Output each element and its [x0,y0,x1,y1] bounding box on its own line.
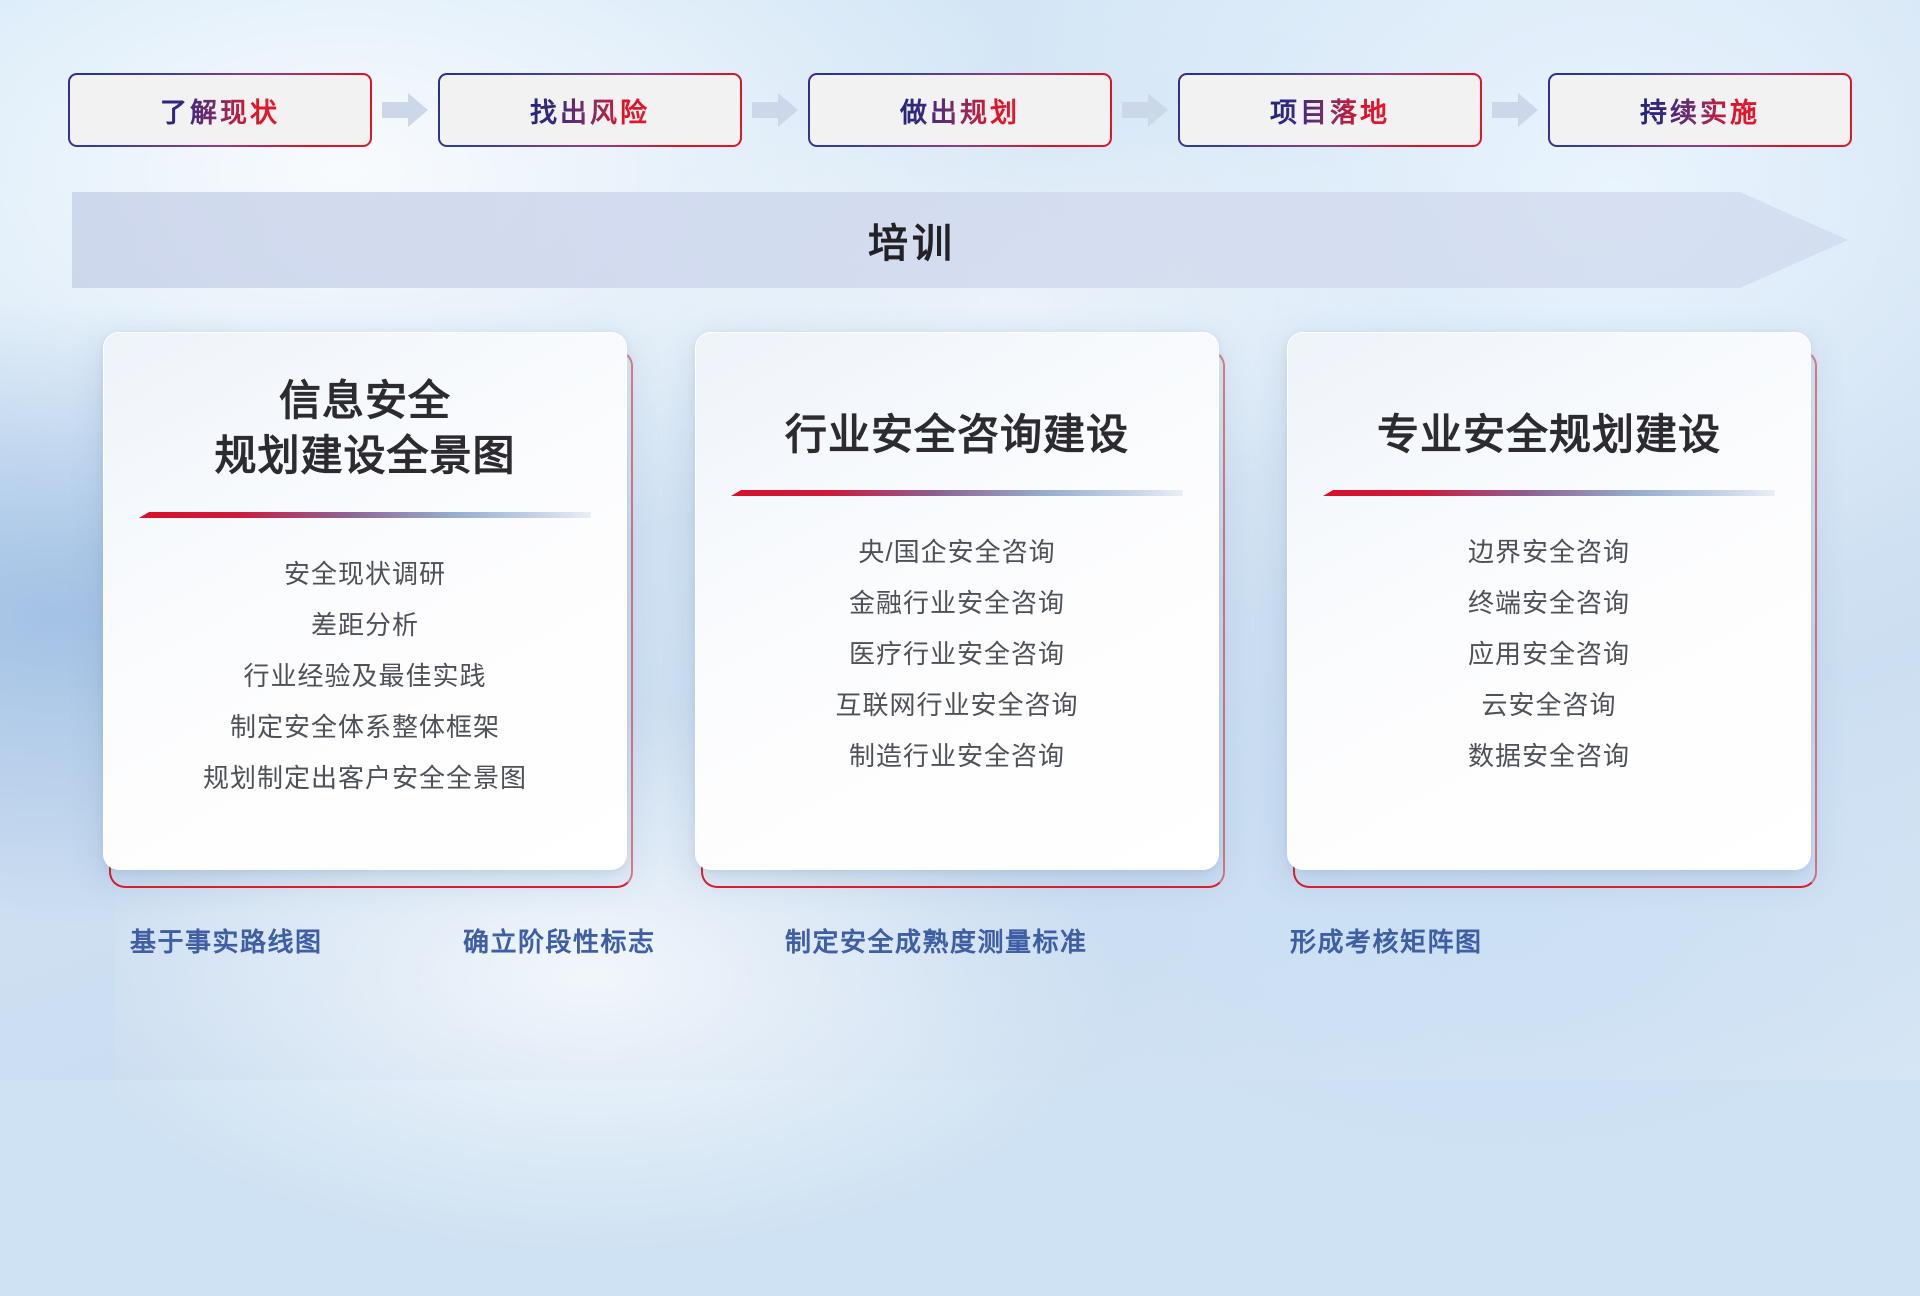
card-list-1: 安全现状调研 差距分析 行业经验及最佳实践 制定安全体系整体框架 规划制定出客户… [134,549,596,804]
card-3[interactable]: 专业安全规划建设 [1287,332,1811,870]
step-box-3[interactable]: 做出规划 [808,73,1112,147]
step-label-2: 找出风险 [530,91,650,130]
card-list-3: 边界安全咨询 终端安全咨询 应用安全咨询 云安全咨询 数据安全咨询 [1318,527,1780,782]
card-divider-1 [139,510,591,523]
card-list-item: 终端安全咨询 [1468,578,1630,629]
card-list-item: 制造行业安全咨询 [849,731,1065,782]
card-list-item: 央/国企安全咨询 [858,527,1055,578]
card-list-item: 规划制定出客户安全全景图 [203,753,527,804]
footnote-1: 基于事实路线图 [130,910,323,970]
card-wrapper-1: 信息安全 规划建设全景图 [103,332,633,888]
step-label-3: 做出规划 [900,91,1020,130]
card-title-1: 信息安全 规划建设全景图 [214,373,515,484]
card-list-item: 数据安全咨询 [1468,731,1630,782]
card-divider-2 [731,488,1183,501]
card-2[interactable]: 行业安全咨询建设 [695,332,1219,870]
card-title-3: 专业安全规划建设 [1377,407,1721,462]
card-list-item: 金融行业安全咨询 [849,578,1065,629]
card-divider-3 [1323,488,1775,501]
process-step-row: 了解现状 找出风险 做出规划 项目落地 持续实施 [0,72,1920,148]
card-wrapper-3: 专业安全规划建设 [1287,332,1817,888]
footnote-2: 确立阶段性标志 [463,910,656,970]
card-wrapper-2: 行业安全咨询建设 [695,332,1225,888]
step-label-1: 了解现状 [160,91,280,130]
step-label-5: 持续实施 [1640,91,1760,130]
footnote-3: 制定安全成熟度测量标准 [785,910,1088,970]
card-list-item: 制定安全体系整体框架 [230,702,500,753]
step-box-4[interactable]: 项目落地 [1178,73,1482,147]
card-list-item: 安全现状调研 [284,549,446,600]
card-1[interactable]: 信息安全 规划建设全景图 [103,332,627,870]
card-list-item: 医疗行业安全咨询 [849,629,1065,680]
footnote-row: 基于事实路线图 确立阶段性标志 制定安全成熟度测量标准 形成考核矩阵图 [0,910,1920,970]
footnote-4: 形成考核矩阵图 [1290,910,1483,970]
step-label-4: 项目落地 [1270,91,1390,130]
card-list-item: 行业经验及最佳实践 [243,651,486,702]
card-row: 信息安全 规划建设全景图 [0,332,1920,888]
training-banner: 培训 [72,192,1848,288]
card-list-2: 央/国企安全咨询 金融行业安全咨询 医疗行业安全咨询 互联网行业安全咨询 制造行… [726,527,1188,782]
card-list-item: 应用安全咨询 [1468,629,1630,680]
card-list-item: 云安全咨询 [1481,680,1616,731]
step-box-5[interactable]: 持续实施 [1548,73,1852,147]
banner-title: 培训 [72,192,1752,288]
step-box-1[interactable]: 了解现状 [68,73,372,147]
step-arrow-icon-4 [1482,73,1548,147]
card-list-item: 互联网行业安全咨询 [835,680,1078,731]
card-title-2: 行业安全咨询建设 [785,407,1129,462]
step-box-2[interactable]: 找出风险 [438,73,742,147]
card-list-item: 边界安全咨询 [1468,527,1630,578]
step-arrow-icon-3 [1112,73,1178,147]
step-arrow-icon-2 [742,73,808,147]
step-arrow-icon-1 [372,73,438,147]
card-list-item: 差距分析 [311,600,419,651]
